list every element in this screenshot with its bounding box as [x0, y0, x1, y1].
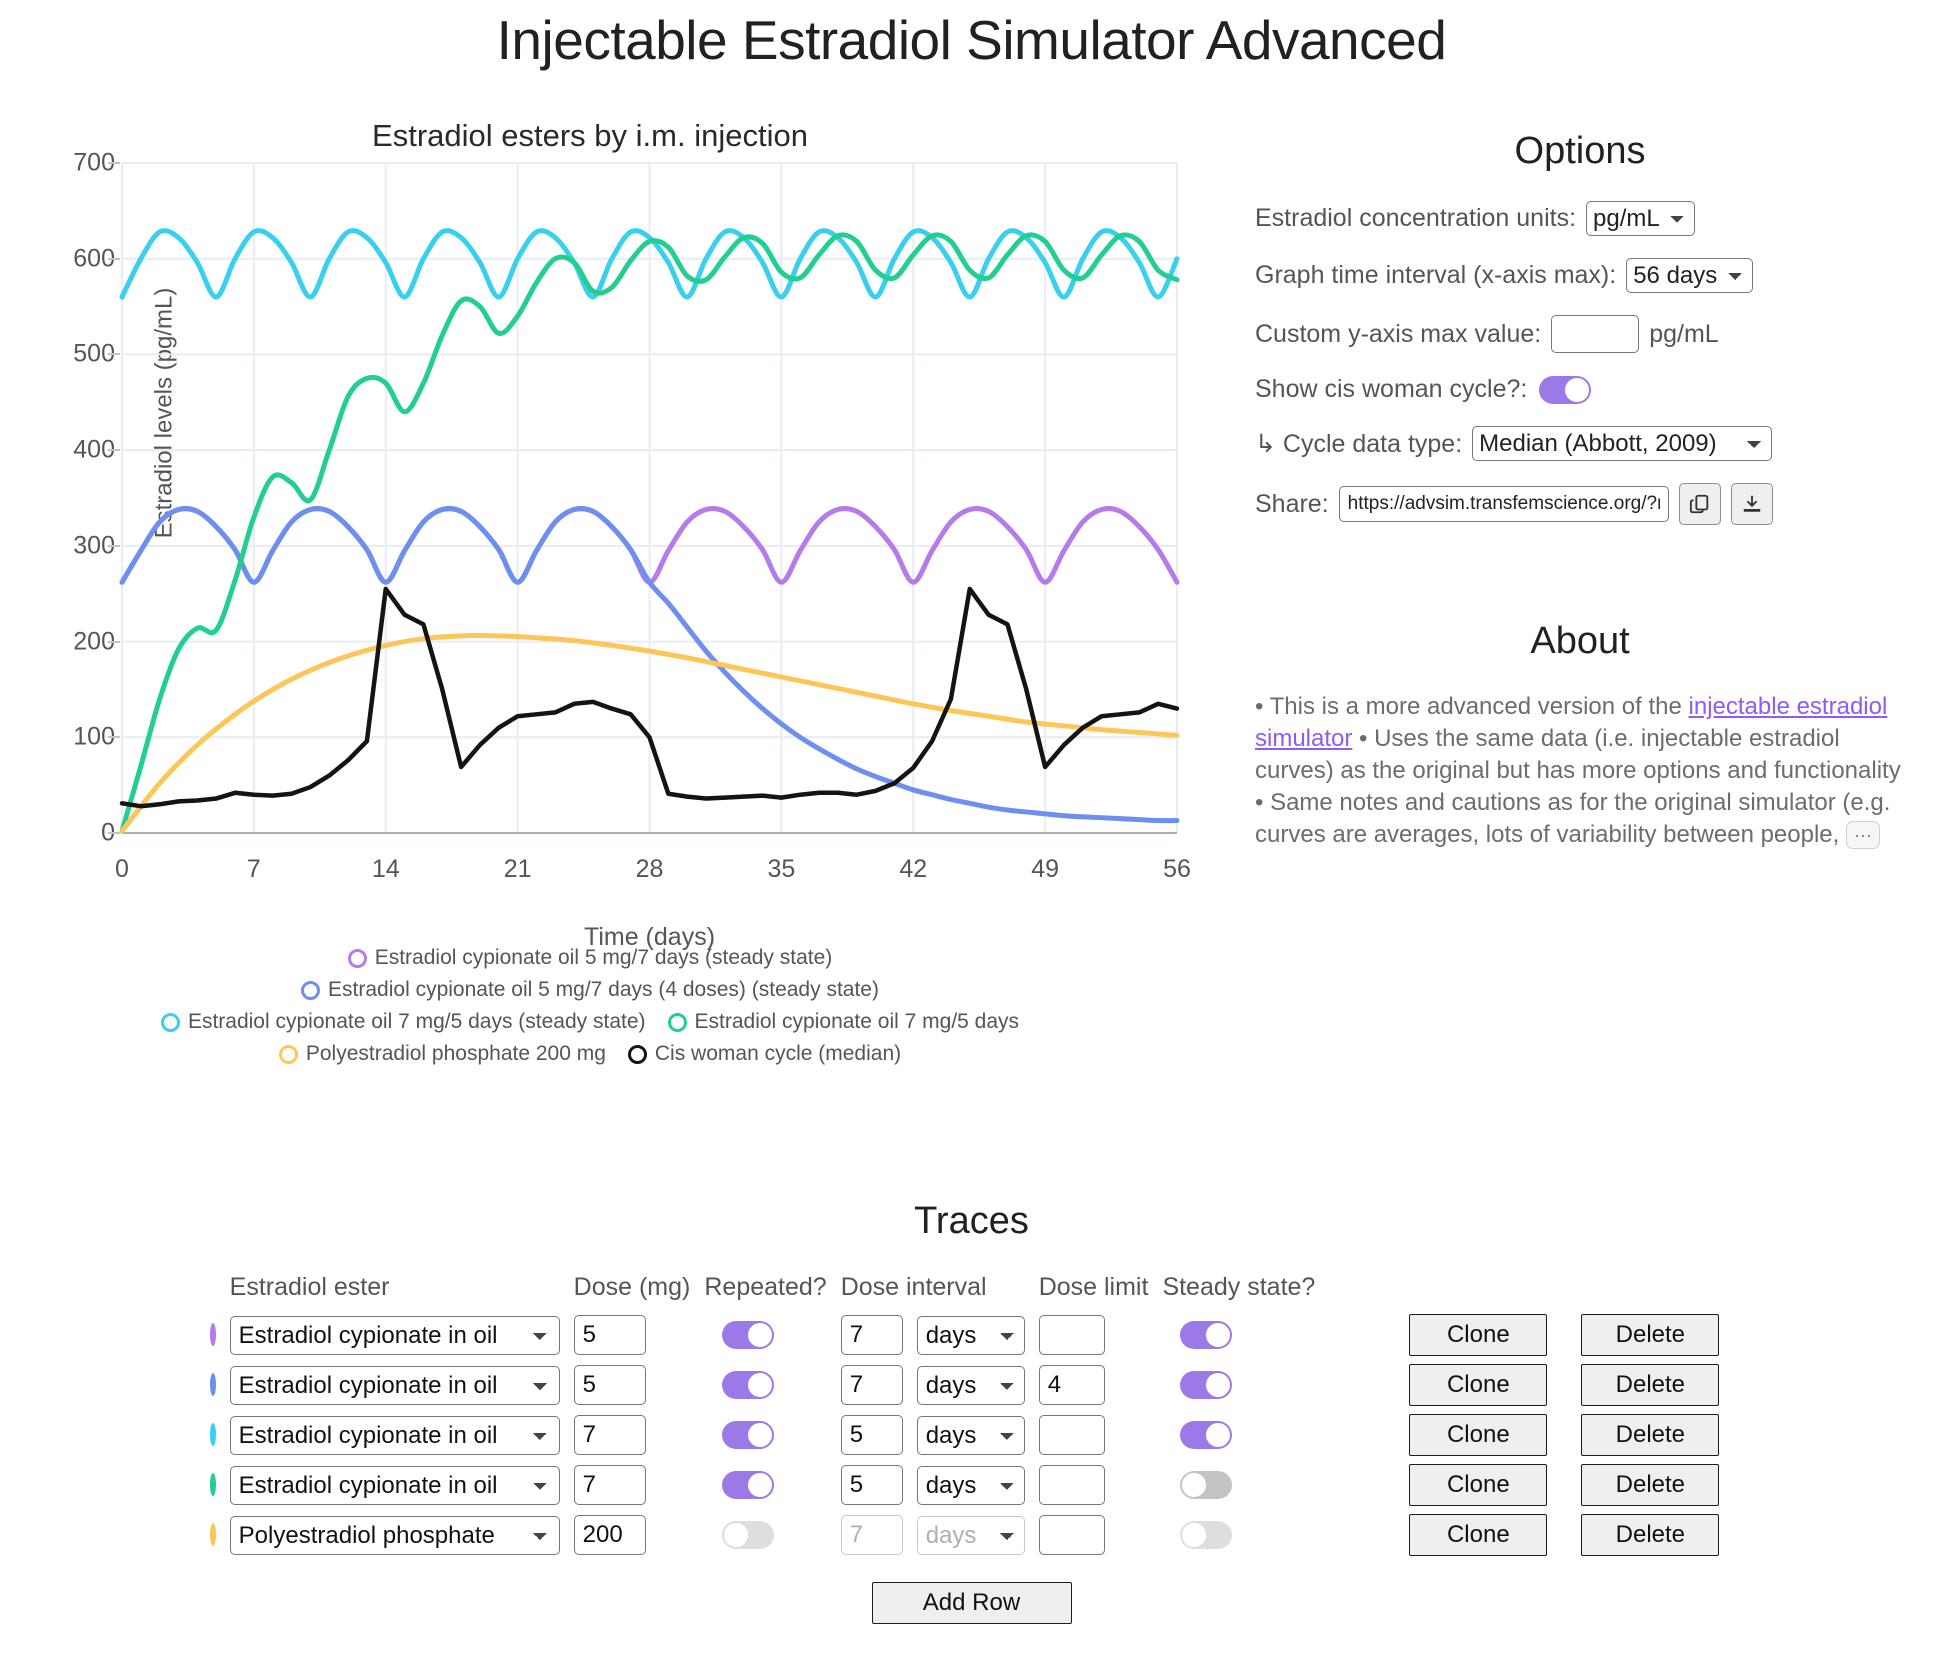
row-interval-unit-cell: days [917, 1360, 1039, 1410]
table-row: Estradiol cypionate in oildaysCloneDelet… [210, 1360, 1734, 1410]
interval-unit-select-2[interactable]: days [917, 1416, 1025, 1455]
legend-row: Estradiol cypionate oil 5 mg/7 days (ste… [0, 946, 1180, 970]
row-interval-cell [841, 1460, 917, 1510]
toggle-knob-icon [1206, 1323, 1230, 1347]
row-delete-cell: Delete [1561, 1360, 1733, 1410]
chart-series-line [122, 589, 1177, 806]
clone-button-4[interactable]: Clone [1409, 1514, 1547, 1556]
steady-toggle-4[interactable] [1180, 1521, 1232, 1549]
repeated-toggle-3[interactable] [722, 1471, 774, 1499]
row-steady-cell [1162, 1360, 1329, 1410]
cycle-type-label: ↳ Cycle data type: [1255, 429, 1462, 459]
row-ester-cell: Estradiol cypionate in oil [230, 1360, 574, 1410]
traces-body: Estradiol cypionate in oildaysCloneDelet… [210, 1310, 1734, 1560]
ymax-row: Custom y-axis max value: pg/mL [1255, 315, 1935, 353]
delete-button-4[interactable]: Delete [1581, 1514, 1719, 1556]
row-limit-cell [1039, 1310, 1163, 1360]
repeated-toggle-1[interactable] [722, 1371, 774, 1399]
row-limit-cell [1039, 1510, 1163, 1560]
row-interval-cell [841, 1360, 917, 1410]
row-color-cell [210, 1460, 230, 1510]
legend-label: Estradiol cypionate oil 5 mg/7 days (ste… [375, 946, 833, 970]
dose-input-0[interactable] [574, 1315, 646, 1355]
table-row: Estradiol cypionate in oildaysCloneDelet… [210, 1410, 1734, 1460]
row-color-cell [210, 1510, 230, 1560]
row-repeated-cell [704, 1360, 840, 1410]
cycle-type-row: ↳ Cycle data type: Median (Abbott, 2009) [1255, 426, 1935, 461]
cycle-type-select[interactable]: Median (Abbott, 2009) [1472, 426, 1772, 461]
x-tick-label: 14 [372, 855, 400, 884]
share-input[interactable] [1339, 486, 1669, 522]
copy-icon [1689, 493, 1711, 515]
row-delete-cell: Delete [1561, 1310, 1733, 1360]
col-dose-header: Dose (mg) [574, 1273, 705, 1310]
clone-button-2[interactable]: Clone [1409, 1414, 1547, 1456]
delete-button-1[interactable]: Delete [1581, 1364, 1719, 1406]
x-tick-label: 49 [1031, 855, 1059, 884]
units-select[interactable]: pg/mL [1586, 201, 1695, 236]
row-clone-cell: Clone [1329, 1510, 1561, 1560]
limit-input-3[interactable] [1039, 1465, 1105, 1505]
traces-table: Estradiol ester Dose (mg) Repeated? Dose… [210, 1273, 1734, 1560]
download-icon [1741, 493, 1763, 515]
ester-select-2[interactable]: Estradiol cypionate in oil [230, 1416, 560, 1455]
options-panel: Options Estradiol concentration units: p… [1255, 130, 1935, 547]
col-steady-header: Steady state? [1162, 1273, 1329, 1310]
row-clone-cell: Clone [1329, 1460, 1561, 1510]
row-interval-cell [841, 1510, 917, 1560]
about-panel: About • This is a more advanced version … [1255, 620, 1935, 851]
share-label: Share: [1255, 490, 1329, 519]
y-tick-label: 700 [0, 149, 115, 178]
y-tick-label: 300 [0, 531, 115, 560]
traces-section: Traces Estradiol ester Dose (mg) Repeate… [0, 1200, 1943, 1624]
interval-unit-select-0[interactable]: days [917, 1316, 1025, 1355]
row-limit-cell [1039, 1360, 1163, 1410]
ester-select-4[interactable]: Polyestradiol phosphate [230, 1516, 560, 1555]
steady-toggle-3[interactable] [1180, 1471, 1232, 1499]
legend-swatch-icon [279, 1045, 298, 1064]
cycle-toggle[interactable] [1539, 376, 1591, 404]
legend-item-5[interactable]: Cis woman cycle (median) [628, 1042, 901, 1066]
units-label: Estradiol concentration units: [1255, 204, 1576, 233]
legend-row: Estradiol cypionate oil 5 mg/7 days (4 d… [0, 978, 1180, 1002]
limit-input-4[interactable] [1039, 1515, 1105, 1555]
row-dose-cell [574, 1510, 705, 1560]
time-interval-row: Graph time interval (x-axis max): 56 day… [1255, 258, 1935, 293]
add-row-button[interactable]: Add Row [872, 1582, 1072, 1624]
table-row: Estradiol cypionate in oildaysCloneDelet… [210, 1460, 1734, 1510]
row-steady-cell [1162, 1310, 1329, 1360]
limit-input-0[interactable] [1039, 1315, 1105, 1355]
col-delete-header [1561, 1273, 1733, 1310]
row-interval-unit-cell: days [917, 1310, 1039, 1360]
col-repeated-header: Repeated? [704, 1273, 840, 1310]
x-tick-label: 42 [899, 855, 927, 884]
ymax-input[interactable] [1551, 315, 1639, 353]
table-row: Estradiol cypionate in oildaysCloneDelet… [210, 1310, 1734, 1360]
row-color-cell [210, 1410, 230, 1460]
interval-unit-select-3[interactable]: days [917, 1466, 1025, 1505]
legend-swatch-icon [301, 981, 320, 1000]
repeated-toggle-2[interactable] [722, 1421, 774, 1449]
interval-input-1[interactable] [841, 1365, 903, 1405]
legend-swatch-icon [348, 949, 367, 968]
interval-input-4[interactable] [841, 1515, 903, 1555]
expand-about-button[interactable]: ··· [1846, 821, 1880, 849]
repeated-toggle-4[interactable] [722, 1521, 774, 1549]
legend-label: Estradiol cypionate oil 5 mg/7 days (4 d… [328, 978, 879, 1002]
row-ester-cell: Estradiol cypionate in oil [230, 1310, 574, 1360]
y-tick-mark [108, 641, 120, 643]
row-interval-cell [841, 1410, 917, 1460]
dose-input-3[interactable] [574, 1465, 646, 1505]
toggle-knob-icon [1206, 1423, 1230, 1447]
col-clone-header [1329, 1273, 1561, 1310]
legend-swatch-icon [628, 1045, 647, 1064]
dose-input-1[interactable] [574, 1365, 646, 1405]
interval-input-3[interactable] [841, 1465, 903, 1505]
row-interval-unit-cell: days [917, 1510, 1039, 1560]
delete-button-2[interactable]: Delete [1581, 1414, 1719, 1456]
trace-color-swatch-icon [210, 1323, 216, 1346]
row-color-cell [210, 1310, 230, 1360]
row-interval-unit-cell: days [917, 1460, 1039, 1510]
options-heading: Options [1255, 130, 1905, 173]
share-row: Share: [1255, 483, 1935, 525]
y-tick-mark [108, 449, 120, 451]
page-title: Injectable Estradiol Simulator Advanced [0, 8, 1943, 72]
legend-item-4[interactable]: Polyestradiol phosphate 200 mg [279, 1042, 606, 1066]
row-repeated-cell [704, 1460, 840, 1510]
y-tick-mark [108, 353, 120, 355]
col-limit-header: Dose limit [1039, 1273, 1163, 1310]
interval-unit-select-4[interactable]: days [917, 1516, 1025, 1555]
chart-title: Estradiol esters by i.m. injection [0, 118, 1180, 154]
row-clone-cell: Clone [1329, 1360, 1561, 1410]
toggle-knob-icon [724, 1523, 748, 1547]
download-button[interactable] [1731, 483, 1773, 525]
steady-toggle-2[interactable] [1180, 1421, 1232, 1449]
col-dot-header [210, 1273, 230, 1310]
legend-item-0[interactable]: Estradiol cypionate oil 5 mg/7 days (ste… [348, 946, 833, 970]
row-interval-unit-cell: days [917, 1410, 1039, 1460]
y-tick-label: 500 [0, 340, 115, 369]
row-steady-cell [1162, 1510, 1329, 1560]
y-tick-mark [108, 162, 120, 164]
y-tick-mark [108, 736, 120, 738]
row-clone-cell: Clone [1329, 1410, 1561, 1460]
ester-select-3[interactable]: Estradiol cypionate in oil [230, 1466, 560, 1505]
time-interval-select[interactable]: 56 days [1626, 258, 1753, 293]
clone-button-3[interactable]: Clone [1409, 1464, 1547, 1506]
x-tick-label: 28 [636, 855, 664, 884]
app-root: Injectable Estradiol Simulator Advanced … [0, 0, 1943, 1679]
cycle-toggle-label: Show cis woman cycle?: [1255, 375, 1527, 404]
interval-input-0[interactable] [841, 1315, 903, 1355]
trace-color-swatch-icon [210, 1373, 216, 1396]
x-tick-label: 0 [115, 855, 129, 884]
y-tick-label: 600 [0, 244, 115, 273]
traces-header-row: Estradiol ester Dose (mg) Repeated? Dose… [210, 1273, 1734, 1310]
toggle-knob-icon [1565, 378, 1589, 402]
x-tick-label: 7 [247, 855, 261, 884]
dose-input-2[interactable] [574, 1415, 646, 1455]
chart-series-line [122, 509, 1177, 583]
legend-item-3[interactable]: Estradiol cypionate oil 7 mg/5 days [668, 1010, 1020, 1034]
toggle-knob-icon [1206, 1373, 1230, 1397]
x-tick-label: 21 [504, 855, 532, 884]
toggle-knob-icon [748, 1423, 772, 1447]
row-limit-cell [1039, 1460, 1163, 1510]
clone-button-0[interactable]: Clone [1409, 1314, 1547, 1356]
trace-color-swatch-icon [210, 1423, 216, 1446]
y-tick-label: 200 [0, 627, 115, 656]
chart-curves [122, 163, 1177, 833]
y-tick-label: 0 [0, 819, 115, 848]
row-dose-cell [574, 1310, 705, 1360]
delete-button-3[interactable]: Delete [1581, 1464, 1719, 1506]
toggle-knob-icon [748, 1473, 772, 1497]
about-heading: About [1255, 620, 1905, 663]
col-interval-header: Dose interval [841, 1273, 1039, 1310]
y-tick-label: 400 [0, 436, 115, 465]
legend-item-1[interactable]: Estradiol cypionate oil 5 mg/7 days (4 d… [301, 978, 879, 1002]
legend-label: Estradiol cypionate oil 7 mg/5 days [695, 1010, 1020, 1034]
row-ester-cell: Polyestradiol phosphate [230, 1510, 574, 1560]
legend-label: Cis woman cycle (median) [655, 1042, 901, 1066]
row-color-cell [210, 1360, 230, 1410]
row-repeated-cell [704, 1310, 840, 1360]
toggle-knob-icon [748, 1323, 772, 1347]
ester-select-0[interactable]: Estradiol cypionate in oil [230, 1316, 560, 1355]
trace-color-swatch-icon [210, 1523, 216, 1546]
limit-input-2[interactable] [1039, 1415, 1105, 1455]
about-text-part2: • Uses the same data (i.e. injectable es… [1255, 725, 1901, 848]
delete-button-0[interactable]: Delete [1581, 1314, 1719, 1356]
add-row-wrap: Add Row [0, 1582, 1943, 1624]
x-tick-label: 35 [767, 855, 795, 884]
y-tick-mark [108, 545, 120, 547]
chart-legend: Estradiol cypionate oil 5 mg/7 days (ste… [0, 946, 1180, 1074]
traces-heading: Traces [0, 1200, 1943, 1243]
toggle-knob-icon [1182, 1523, 1206, 1547]
steady-toggle-0[interactable] [1180, 1321, 1232, 1349]
clone-button-1[interactable]: Clone [1409, 1364, 1547, 1406]
row-dose-cell [574, 1410, 705, 1460]
steady-toggle-1[interactable] [1180, 1371, 1232, 1399]
legend-swatch-icon [161, 1013, 180, 1032]
col-ester-header: Estradiol ester [230, 1273, 574, 1310]
row-steady-cell [1162, 1410, 1329, 1460]
y-tick-mark [108, 258, 120, 260]
cycle-toggle-row: Show cis woman cycle?: [1255, 375, 1935, 404]
units-row: Estradiol concentration units: pg/mL [1255, 201, 1935, 236]
row-delete-cell: Delete [1561, 1410, 1733, 1460]
legend-label: Estradiol cypionate oil 7 mg/5 days (ste… [188, 1010, 646, 1034]
chart-container: Estradiol esters by i.m. injection Estra… [0, 118, 1200, 1148]
row-limit-cell [1039, 1410, 1163, 1460]
repeated-toggle-0[interactable] [722, 1321, 774, 1349]
ymax-unit-label: pg/mL [1649, 320, 1718, 349]
copy-button[interactable] [1679, 483, 1721, 525]
legend-label: Polyestradiol phosphate 200 mg [306, 1042, 606, 1066]
row-interval-cell [841, 1310, 917, 1360]
row-clone-cell: Clone [1329, 1310, 1561, 1360]
interval-unit-select-1[interactable]: days [917, 1366, 1025, 1405]
legend-row: Polyestradiol phosphate 200 mg Cis woman… [0, 1042, 1180, 1066]
toggle-knob-icon [1182, 1473, 1206, 1497]
legend-item-2[interactable]: Estradiol cypionate oil 7 mg/5 days (ste… [161, 1010, 646, 1034]
legend-swatch-icon [668, 1013, 687, 1032]
row-ester-cell: Estradiol cypionate in oil [230, 1410, 574, 1460]
row-steady-cell [1162, 1460, 1329, 1510]
row-delete-cell: Delete [1561, 1460, 1733, 1510]
row-repeated-cell [704, 1410, 840, 1460]
dose-input-4[interactable] [574, 1515, 646, 1555]
row-dose-cell [574, 1460, 705, 1510]
plot-area: Estradiol levels (pg/mL) Time (days) 010… [122, 163, 1177, 833]
interval-input-2[interactable] [841, 1415, 903, 1455]
row-repeated-cell [704, 1510, 840, 1560]
limit-input-1[interactable] [1039, 1365, 1105, 1405]
ester-select-1[interactable]: Estradiol cypionate in oil [230, 1366, 560, 1405]
table-row: Polyestradiol phosphatedaysCloneDelete [210, 1510, 1734, 1560]
time-interval-label: Graph time interval (x-axis max): [1255, 261, 1616, 290]
trace-color-swatch-icon [210, 1473, 216, 1496]
legend-row: Estradiol cypionate oil 7 mg/5 days (ste… [0, 1010, 1180, 1034]
about-text-part1: • This is a more advanced version of the [1255, 693, 1689, 720]
y-tick-label: 100 [0, 723, 115, 752]
x-tick-label: 56 [1163, 855, 1191, 884]
row-dose-cell [574, 1360, 705, 1410]
ymax-label: Custom y-axis max value: [1255, 320, 1541, 349]
y-tick-mark [108, 832, 120, 834]
row-ester-cell: Estradiol cypionate in oil [230, 1460, 574, 1510]
toggle-knob-icon [748, 1373, 772, 1397]
row-delete-cell: Delete [1561, 1510, 1733, 1560]
about-text: • This is a more advanced version of the… [1255, 691, 1915, 851]
